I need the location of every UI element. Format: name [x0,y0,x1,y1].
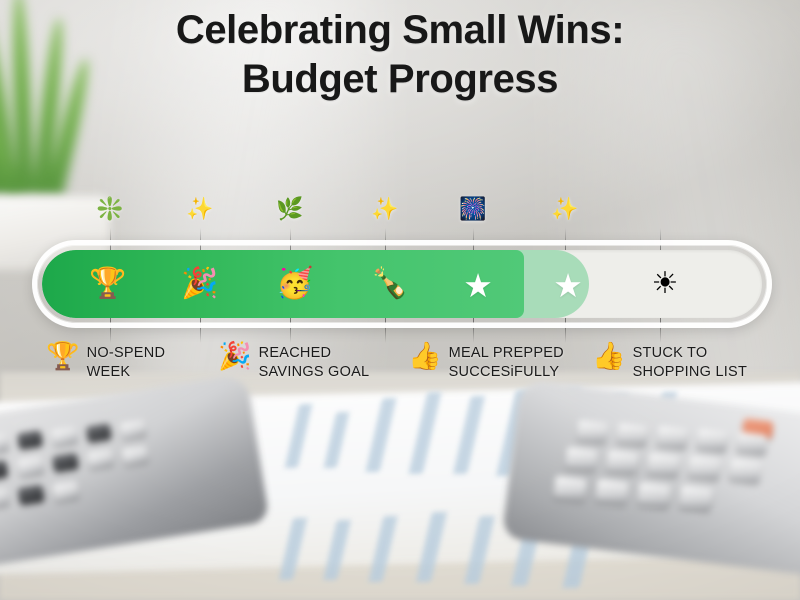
title-line-2: Budget Progress [0,55,800,104]
sparkle-grey-1: ❇️ [96,198,123,220]
legend-meal-prepped[interactable]: 👍MEAL PREPPEDSUCCESiFULLY [408,342,564,382]
poster-canvas: Celebrating Small Wins: Budget Progress … [0,0,800,600]
star-icon-filled[interactable]: ★ [463,269,493,302]
legend-label: MEAL PREPPEDSUCCESiFULLY [449,342,564,382]
sparkle-gold-6: ✨ [551,198,578,220]
sparkle-white-2: ✨ [186,198,213,220]
legend-label-line-1: MEAL PREPPED [449,344,564,363]
legend-label: REACHEDSAVINGS GOAL [259,342,370,382]
sparkle-gold-4: ✨ [371,198,398,220]
legend-reached-savings-goal[interactable]: 🎉REACHEDSAVINGS GOAL [218,342,369,382]
legend-label-line-2: SUCCESiFULLY [449,363,564,382]
legend-label-line-2: SHOPPING LIST [633,363,747,382]
sparkle-green-3: 🌿 [276,198,303,220]
legend-label-line-2: SAVINGS GOAL [259,363,370,382]
legend-label-line-1: REACHED [259,344,370,363]
sun-icon[interactable]: ☀ [652,269,679,299]
legend-label-line-2: WEEK [87,363,166,382]
party-horn-icon[interactable]: 🥳 [276,269,313,299]
thumbs-up-icon: 👍 [592,342,626,370]
title-line-1: Celebrating Small Wins: [0,6,800,55]
party-popper-icon: 🎉 [218,342,252,370]
legend-label-line-1: NO-SPEND [87,344,166,363]
page-title: Celebrating Small Wins: Budget Progress [0,0,800,104]
champagne-icon[interactable]: 🍾 [371,269,408,299]
trophy-icon: 🏆 [46,342,80,370]
star-icon-soft[interactable]: ★ [553,269,583,302]
sparkle-white-5: 🎆 [459,198,486,220]
trophy-icon[interactable]: 🏆 [89,269,126,299]
thumbs-up-icon: 👍 [408,342,442,370]
legend-label: NO-SPENDWEEK [87,342,166,382]
legend-label: STUCK TOSHOPPING LIST [633,342,747,382]
legend-stuck-to-shopping-list[interactable]: 👍STUCK TOSHOPPING LIST [592,342,747,382]
legend-no-spend-week[interactable]: 🏆NO-SPENDWEEK [46,342,165,382]
party-popper-icon[interactable]: 🎉 [181,269,218,299]
legend-label-line-1: STUCK TO [633,344,747,363]
